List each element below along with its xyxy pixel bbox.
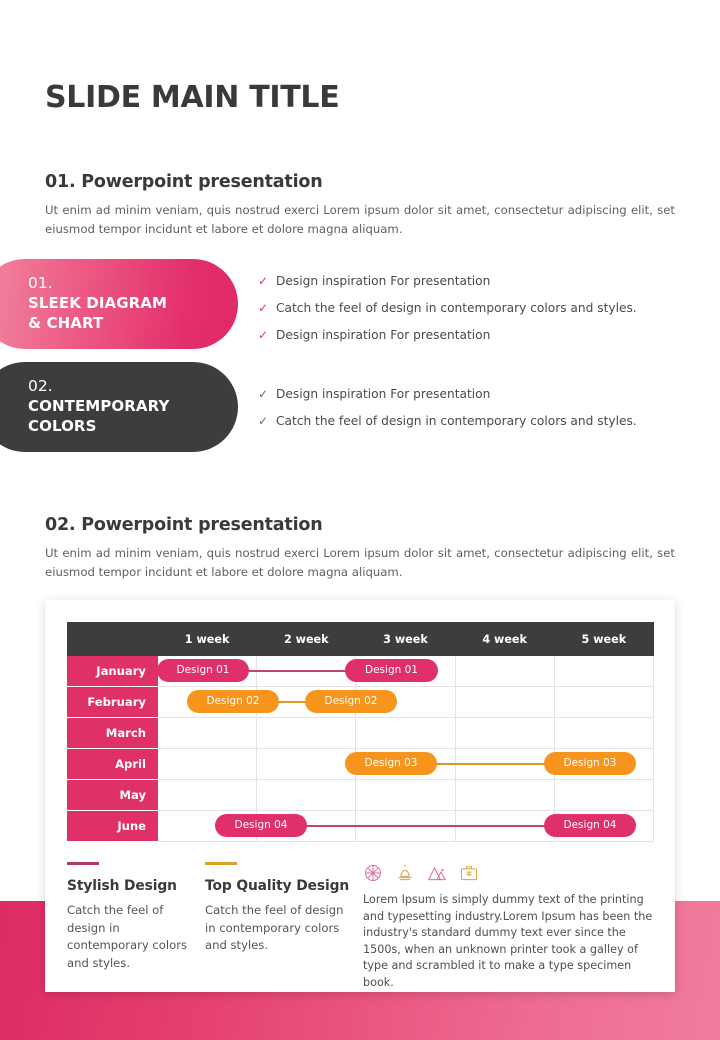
feature-text: Catch the feel of design in contemporary… — [205, 902, 355, 955]
feature-text: Catch the feel of design in contemporary… — [67, 902, 197, 972]
gantt-row-may — [67, 779, 653, 810]
pill-number: 01. — [28, 273, 238, 293]
check-icon: ✓ — [258, 273, 276, 290]
feature-lorem-block: Lorem Ipsum is simply dummy text of the … — [363, 862, 659, 991]
list-item-label: Design inspiration For presentation — [276, 273, 490, 290]
pill-label-line1: SLEEK DIAGRAM — [28, 293, 238, 313]
checklist-2: ✓ Design inspiration For presentation ✓ … — [258, 386, 637, 440]
list-item: ✓ Design inspiration For presentation — [258, 386, 637, 403]
mountains-icon — [427, 863, 447, 883]
column-header-week3: 3 week — [356, 623, 455, 656]
column-header-week2: 2 week — [257, 623, 356, 656]
gantt-card: 1 week 2 week 3 week 4 week 5 week Janua… — [45, 600, 675, 992]
column-header-week4: 4 week — [455, 623, 554, 656]
section-1-body: Ut enim ad minim veniam, quis nostrud ex… — [45, 201, 675, 239]
pill-label-line2: & CHART — [28, 313, 238, 333]
column-header-week5: 5 week — [554, 623, 653, 656]
list-item-label: Design inspiration For presentation — [276, 327, 490, 344]
gantt-bar[interactable]: Design 02 — [187, 690, 279, 713]
section-2-heading: 02. Powerpoint presentation — [45, 515, 322, 535]
list-item: ✓ Design inspiration For presentation — [258, 327, 637, 344]
gantt-bar[interactable]: Design 02 — [305, 690, 397, 713]
feature-stylish-design: Stylish Design Catch the feel of design … — [67, 862, 197, 972]
gantt-row-january: Design 01 Design 01 — [67, 655, 653, 686]
list-item-label: Catch the feel of design in contemporary… — [276, 413, 637, 430]
check-icon: ✓ — [258, 327, 276, 344]
gantt-bar[interactable]: Design 01 — [157, 659, 249, 682]
gantt-row-february: Design 02 Design 02 — [67, 686, 653, 717]
pill-label-line2: COLORS — [28, 416, 238, 436]
feature-title: Stylish Design — [67, 878, 197, 894]
pill-contemporary-colors[interactable]: 02. CONTEMPORARY COLORS — [0, 362, 238, 452]
table-header-row: 1 week 2 week 3 week 4 week 5 week — [68, 623, 654, 656]
briefcase-icon — [459, 863, 479, 883]
feature-icon-row — [363, 862, 659, 884]
section-2-body: Ut enim ad minim veniam, quis nostrud ex… — [45, 544, 675, 582]
beach-ball-icon — [363, 863, 383, 883]
checklist-1: ✓ Design inspiration For presentation ✓ … — [258, 273, 637, 354]
gantt-bars-layer: Design 01 Design 01 Design 02 Design 02 … — [67, 655, 653, 841]
pill-sleek-diagram[interactable]: 01. SLEEK DIAGRAM & CHART — [0, 259, 238, 349]
gantt-bar[interactable]: Design 04 — [544, 814, 636, 837]
check-icon: ✓ — [258, 386, 276, 403]
feature-rule — [205, 862, 237, 865]
gantt-bar[interactable]: Design 03 — [544, 752, 636, 775]
pill-label-line1: CONTEMPORARY — [28, 396, 238, 416]
slide-page: SLIDE MAIN TITLE 01. Powerpoint presenta… — [0, 0, 720, 1040]
feature-title: Top Quality Design — [205, 878, 355, 894]
check-icon: ✓ — [258, 300, 276, 317]
gantt-row-april: Design 03 Design 03 — [67, 748, 653, 779]
page-title: SLIDE MAIN TITLE — [45, 80, 339, 115]
pill-number: 02. — [28, 376, 238, 396]
section-1-heading: 01. Powerpoint presentation — [45, 172, 322, 192]
column-header-week1: 1 week — [158, 623, 257, 656]
feature-rule — [67, 862, 99, 865]
column-header-corner — [68, 623, 158, 656]
lorem-text: Lorem Ipsum is simply dummy text of the … — [363, 892, 659, 991]
feature-top-quality-design: Top Quality Design Catch the feel of des… — [205, 862, 355, 955]
list-item: ✓ Design inspiration For presentation — [258, 273, 637, 290]
gantt-bar[interactable]: Design 01 — [345, 659, 438, 682]
gantt-bar[interactable]: Design 04 — [215, 814, 307, 837]
list-item: ✓ Catch the feel of design in contempora… — [258, 300, 637, 317]
list-item-label: Catch the feel of design in contemporary… — [276, 300, 637, 317]
check-icon: ✓ — [258, 413, 276, 430]
gantt-row-march — [67, 717, 653, 748]
list-item: ✓ Catch the feel of design in contempora… — [258, 413, 637, 430]
gantt-bar[interactable]: Design 03 — [345, 752, 437, 775]
lamp-icon — [395, 863, 415, 883]
gantt-row-june: Design 04 Design 04 — [67, 810, 653, 841]
list-item-label: Design inspiration For presentation — [276, 386, 490, 403]
gantt-link — [277, 825, 577, 827]
